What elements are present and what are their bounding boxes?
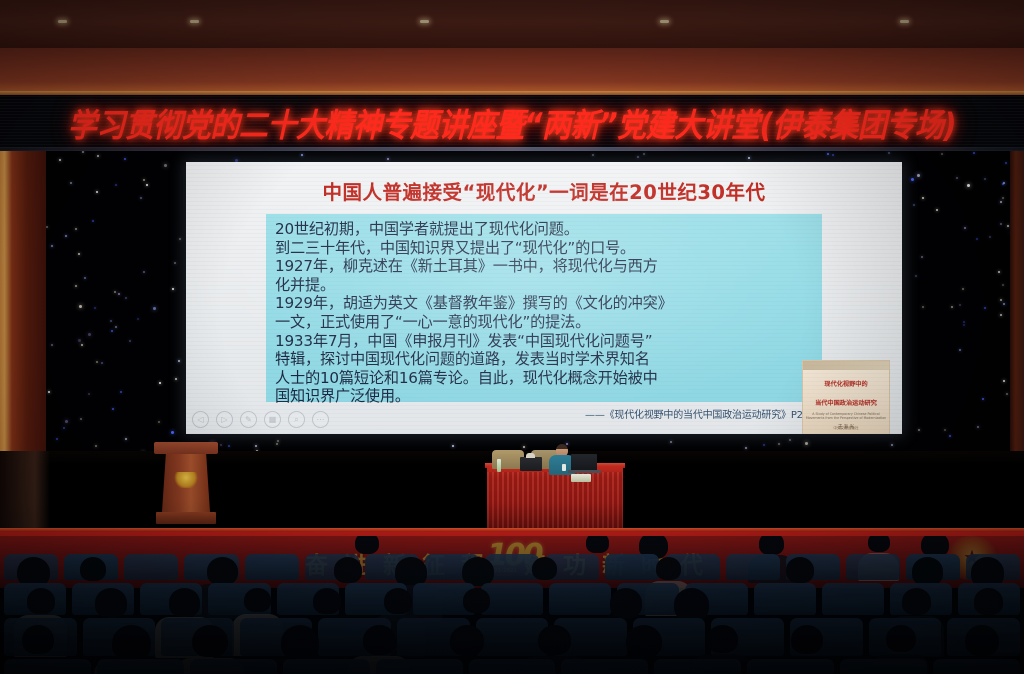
starfield-light [1002, 197, 1004, 199]
auditorium-seat [190, 659, 277, 674]
starfield-light [917, 174, 920, 177]
starfield-light [592, 154, 594, 156]
slide-body-line: 化并提。 [275, 276, 813, 295]
auditorium-seat [933, 659, 1020, 674]
ppt-presenter-toolbar[interactable]: ◁ ▷ ✎ ▦ ⌕ ⋯ [192, 411, 329, 428]
zoom-icon[interactable]: ⌕ [288, 411, 305, 428]
book-cover-image: 现代化视野中的 当代中国政治运动研究 A Study of Contempora… [802, 360, 890, 434]
stage-curtain-right [1010, 151, 1024, 451]
ceiling-light [900, 20, 909, 23]
stage-curtain-left [0, 151, 46, 451]
seat-row [0, 554, 1024, 580]
slide-citation: ——《现代化视野中的当代中国政治运动研究》P24 [275, 406, 813, 421]
starfield-light [949, 435, 951, 437]
starfield-light [963, 321, 965, 323]
laptop-base [568, 470, 601, 473]
starfield-light [832, 154, 834, 156]
audience-member-head [912, 557, 943, 586]
audience-member-head [384, 588, 413, 614]
audience-seating [0, 536, 1024, 674]
starfield-light [118, 293, 120, 295]
auditorium-seat [481, 583, 543, 615]
starfield-light [125, 297, 127, 299]
starfield-light [96, 191, 98, 193]
starfield-light [112, 408, 114, 410]
auditorium-seat [124, 554, 178, 580]
desk-equipment [520, 457, 542, 471]
cup [562, 464, 566, 471]
slide-body-line: 1933年7月，中国《申报月刊》发表“中国现代化问题号” [275, 332, 813, 351]
starfield-light [143, 179, 145, 181]
nameplate [571, 474, 591, 482]
starfield-light [159, 382, 161, 384]
starfield-light [179, 238, 181, 240]
auditorium-seat [97, 659, 184, 674]
audience-member-head [610, 588, 643, 618]
podium-emblem-icon [174, 472, 198, 488]
starfield-light [921, 256, 923, 258]
water-bottle [497, 459, 501, 472]
audience-member-head [886, 625, 916, 653]
audience-member-head [902, 588, 931, 615]
starfield-light [88, 393, 90, 395]
starfield-light [1005, 162, 1007, 164]
starfield-light [110, 320, 112, 322]
starfield-light [789, 439, 791, 441]
starfield-light [1000, 223, 1002, 225]
audience-member-head [965, 625, 1000, 657]
starfield-light [964, 227, 966, 229]
starfield-light [1000, 299, 1002, 301]
starfield-light [101, 362, 103, 364]
starfield-light [951, 306, 953, 308]
starfield-light [75, 285, 77, 287]
starfield-light [81, 344, 83, 346]
ceiling-valance [0, 48, 1024, 95]
starfield-light [114, 291, 116, 293]
starfield-light [125, 438, 127, 440]
auditorium-seat [747, 659, 834, 674]
auditorium-seat [822, 583, 884, 615]
starfield-light [911, 178, 914, 181]
starfield-light [962, 288, 964, 290]
audience-member-head [707, 625, 738, 653]
book-cover-title-1: 现代化视野中的 [803, 381, 889, 389]
more-options-icon[interactable]: ⋯ [312, 411, 329, 428]
slide-body-box: 20世纪初期，中国学者就提出了现代化问题。 到二三十年代，中国知识界又提出了“现… [266, 214, 822, 402]
starfield-light [75, 228, 77, 230]
slide-body-line: 国知识界广泛使用。 [275, 387, 813, 406]
starfield-light [59, 159, 61, 161]
starfield-light [111, 330, 113, 332]
audience-member-head [674, 588, 710, 621]
audience-member-head [244, 588, 270, 612]
starfield-light [922, 197, 924, 199]
starfield-light [51, 245, 53, 247]
starfield-light [56, 438, 58, 440]
slide-body-line: 一文，正式使用了“一心一意的现代化”的提法。 [275, 313, 813, 332]
previous-slide-icon[interactable]: ◁ [192, 411, 209, 428]
table-cloth [487, 466, 623, 528]
starfield-light [1003, 303, 1005, 305]
slide-body-line: 到二三十年代，中国知识界又提出了“现代化”的口号。 [275, 239, 813, 258]
starfield-light [164, 164, 167, 167]
led-banner: 学习贯彻党的二十大精神专题讲座暨“两新”党建大讲堂(伊泰集团专场) [0, 95, 1024, 151]
starfield-light [643, 153, 645, 155]
book-cover-publisher: 中央文献出版社 [803, 426, 889, 431]
book-cover-title-2: 当代中国政治运动研究 [803, 400, 889, 408]
starfield-light [171, 431, 174, 434]
audience-member-head [313, 588, 341, 614]
starfield-light [941, 153, 943, 155]
book-cover-subtitle: A Study of Contemporary Chinese Politica… [803, 412, 889, 420]
slide-body-line: 1927年，柳克述在《新土耳其》一书中，将现代化与西方 [275, 257, 813, 276]
slide-body-line: 1929年，胡适为英文《基督教年鉴》撰写的《文化的冲突》 [275, 294, 813, 313]
ceiling-light [660, 20, 669, 23]
starfield-light [891, 444, 893, 446]
starfield-light [146, 184, 148, 186]
starfield-light [918, 429, 920, 431]
starfield-light [778, 443, 780, 445]
audience-member-head [355, 536, 379, 554]
audience-member-head [27, 588, 55, 614]
starfield-light [78, 339, 81, 342]
starfield-light [143, 271, 145, 273]
starfield-light [452, 445, 454, 447]
starfield-light [1002, 284, 1004, 286]
audience-member-head [95, 588, 127, 618]
auditorium-seat [549, 583, 611, 615]
auditorium-seat [754, 583, 816, 615]
starfield-light [959, 304, 961, 306]
starfield-light [70, 182, 72, 184]
next-slide-icon[interactable]: ▷ [216, 411, 233, 428]
starfield-light [276, 443, 278, 445]
starfield-light [745, 447, 747, 449]
starfield-light [989, 236, 991, 238]
starfield-light [936, 209, 938, 211]
auditorium-seat [605, 554, 659, 580]
starfield-light [140, 197, 142, 199]
starfield-light [984, 307, 986, 309]
audience-member-head [538, 625, 572, 656]
starfield-light [153, 307, 156, 310]
starfield-light [959, 349, 961, 351]
starfield-light [137, 318, 139, 320]
starfield-light [301, 154, 303, 156]
starfield-light [174, 262, 176, 264]
book-cover-band [803, 361, 889, 370]
starfield-light [915, 275, 917, 277]
starfield-light [124, 158, 126, 160]
audience-member-head [463, 588, 490, 613]
starfield-light [637, 156, 639, 158]
auditorium-photo: 学习贯彻党的二十大精神专题讲座暨“两新”党建大讲堂(伊泰集团专场) 中国人普遍接… [0, 0, 1024, 674]
audience-member-head [80, 557, 106, 581]
starfield-light [48, 391, 50, 393]
starfield-light [65, 235, 67, 237]
starfield-light [670, 441, 672, 443]
audience-member-head [868, 536, 890, 552]
starfield-light [94, 307, 96, 309]
auditorium-seat [654, 659, 741, 674]
starfield-light [984, 178, 986, 180]
starfield-light [78, 253, 80, 255]
led-banner-text: 学习贯彻党的二十大精神专题讲座暨“两新”党建大讲堂(伊泰集团专场) [68, 99, 956, 146]
starfield-light [80, 418, 82, 420]
starfield-light [387, 158, 389, 160]
audience-member-head [281, 625, 319, 660]
slide-body-line: 特辑，探讨中国现代化问题的道路，发表当时学术界知名 [275, 350, 813, 369]
seat-row [0, 583, 1024, 615]
starfield-light [79, 305, 82, 308]
starfield-light [1000, 201, 1002, 203]
starfield-light [115, 184, 117, 186]
starfield-light [913, 204, 915, 206]
auditorium-seat [4, 659, 91, 674]
starfield-light [172, 288, 174, 290]
speaker-table [487, 448, 623, 528]
starfield-light [982, 398, 984, 400]
slide-body-line: 人士的10篇短论和16篇专论。自此，现代化概念开始被中 [275, 369, 813, 388]
starfield-light [129, 340, 131, 342]
podium-top [154, 442, 218, 454]
starfield-light [922, 306, 924, 308]
starfield-light [763, 444, 765, 446]
starfield-light [178, 360, 180, 362]
starfield-light [115, 326, 117, 328]
audience-member-head [169, 588, 200, 617]
starfield-light [998, 271, 1000, 273]
ceiling-light [58, 20, 67, 23]
starfield-light [255, 445, 257, 447]
audience-member-head [791, 625, 823, 655]
audience-member-head [334, 557, 362, 583]
starfield-light [96, 361, 98, 363]
starfield-light [1006, 393, 1008, 395]
projection-screen: 中国人普遍接受“现代化”一词是在20世纪30年代 20世纪初期，中国学者就提出了… [186, 162, 902, 434]
audience-member-head [626, 625, 662, 658]
starfield-light [228, 445, 230, 447]
starfield-light [97, 155, 99, 157]
starfield-light [158, 421, 160, 423]
auditorium-seat [561, 659, 648, 674]
starfield-light [51, 344, 53, 346]
audience-member-head [656, 557, 681, 580]
starfield-light [1000, 314, 1002, 316]
starfield-light [220, 444, 222, 446]
starfield-light [92, 220, 94, 222]
pen-icon[interactable]: ✎ [240, 411, 257, 428]
starfield-light [277, 440, 279, 442]
seat-row [0, 618, 1024, 656]
audience-member-head [112, 625, 152, 662]
ceiling [0, 0, 1024, 48]
podium-base [156, 512, 216, 524]
auditorium-seat [726, 554, 780, 580]
starfield-light [973, 152, 975, 154]
auditorium-seat [846, 554, 900, 580]
starfield-light [1003, 380, 1005, 382]
auditorium-seat [376, 659, 463, 674]
starfield-light [84, 277, 86, 279]
starfield-light [956, 177, 958, 179]
slide-grid-icon[interactable]: ▦ [264, 411, 281, 428]
starfield-light [95, 445, 97, 447]
podium [158, 442, 214, 524]
stage-floor-left-shadow [0, 451, 50, 533]
audience-member-head [532, 557, 557, 580]
auditorium-seat [283, 659, 370, 674]
slide-body-line: 20世纪初期，中国学者就提出了现代化问题。 [275, 220, 813, 239]
audience-member-head [786, 557, 814, 583]
starfield-light [944, 429, 946, 431]
audience-member-head [759, 536, 784, 555]
auditorium-seat [469, 659, 556, 674]
audience-member-head [450, 625, 484, 656]
auditorium-seat [840, 659, 927, 674]
audience-member-head [974, 588, 1003, 615]
starfield-light [120, 391, 122, 393]
starfield-light [805, 442, 808, 445]
audience-member-head [363, 625, 396, 655]
audience-member-head [207, 557, 238, 585]
starfield-light [88, 333, 91, 336]
auditorium-seat [245, 554, 299, 580]
starfield-light [976, 238, 978, 240]
stage-front-band [0, 528, 1024, 532]
ceiling-light [420, 20, 429, 23]
starfield-light [748, 157, 750, 159]
ceiling-light [190, 20, 199, 23]
audience-member-head [192, 625, 228, 658]
starfield-light [175, 378, 177, 380]
audience-member-head [586, 536, 608, 553]
starfield-light [967, 184, 970, 187]
starfield-light [977, 426, 979, 428]
starfield-light [82, 151, 84, 153]
audience-member-head [22, 625, 54, 654]
starfield-light [888, 152, 890, 154]
starfield-light [827, 153, 829, 155]
starfield-light [1007, 225, 1009, 227]
slide-title: 中国人普遍接受“现代化”一词是在20世纪30年代 [186, 176, 902, 205]
starfield-light [963, 324, 965, 326]
seat-row [0, 659, 1024, 674]
starfield-light [63, 427, 65, 429]
starfield-light [65, 420, 68, 423]
